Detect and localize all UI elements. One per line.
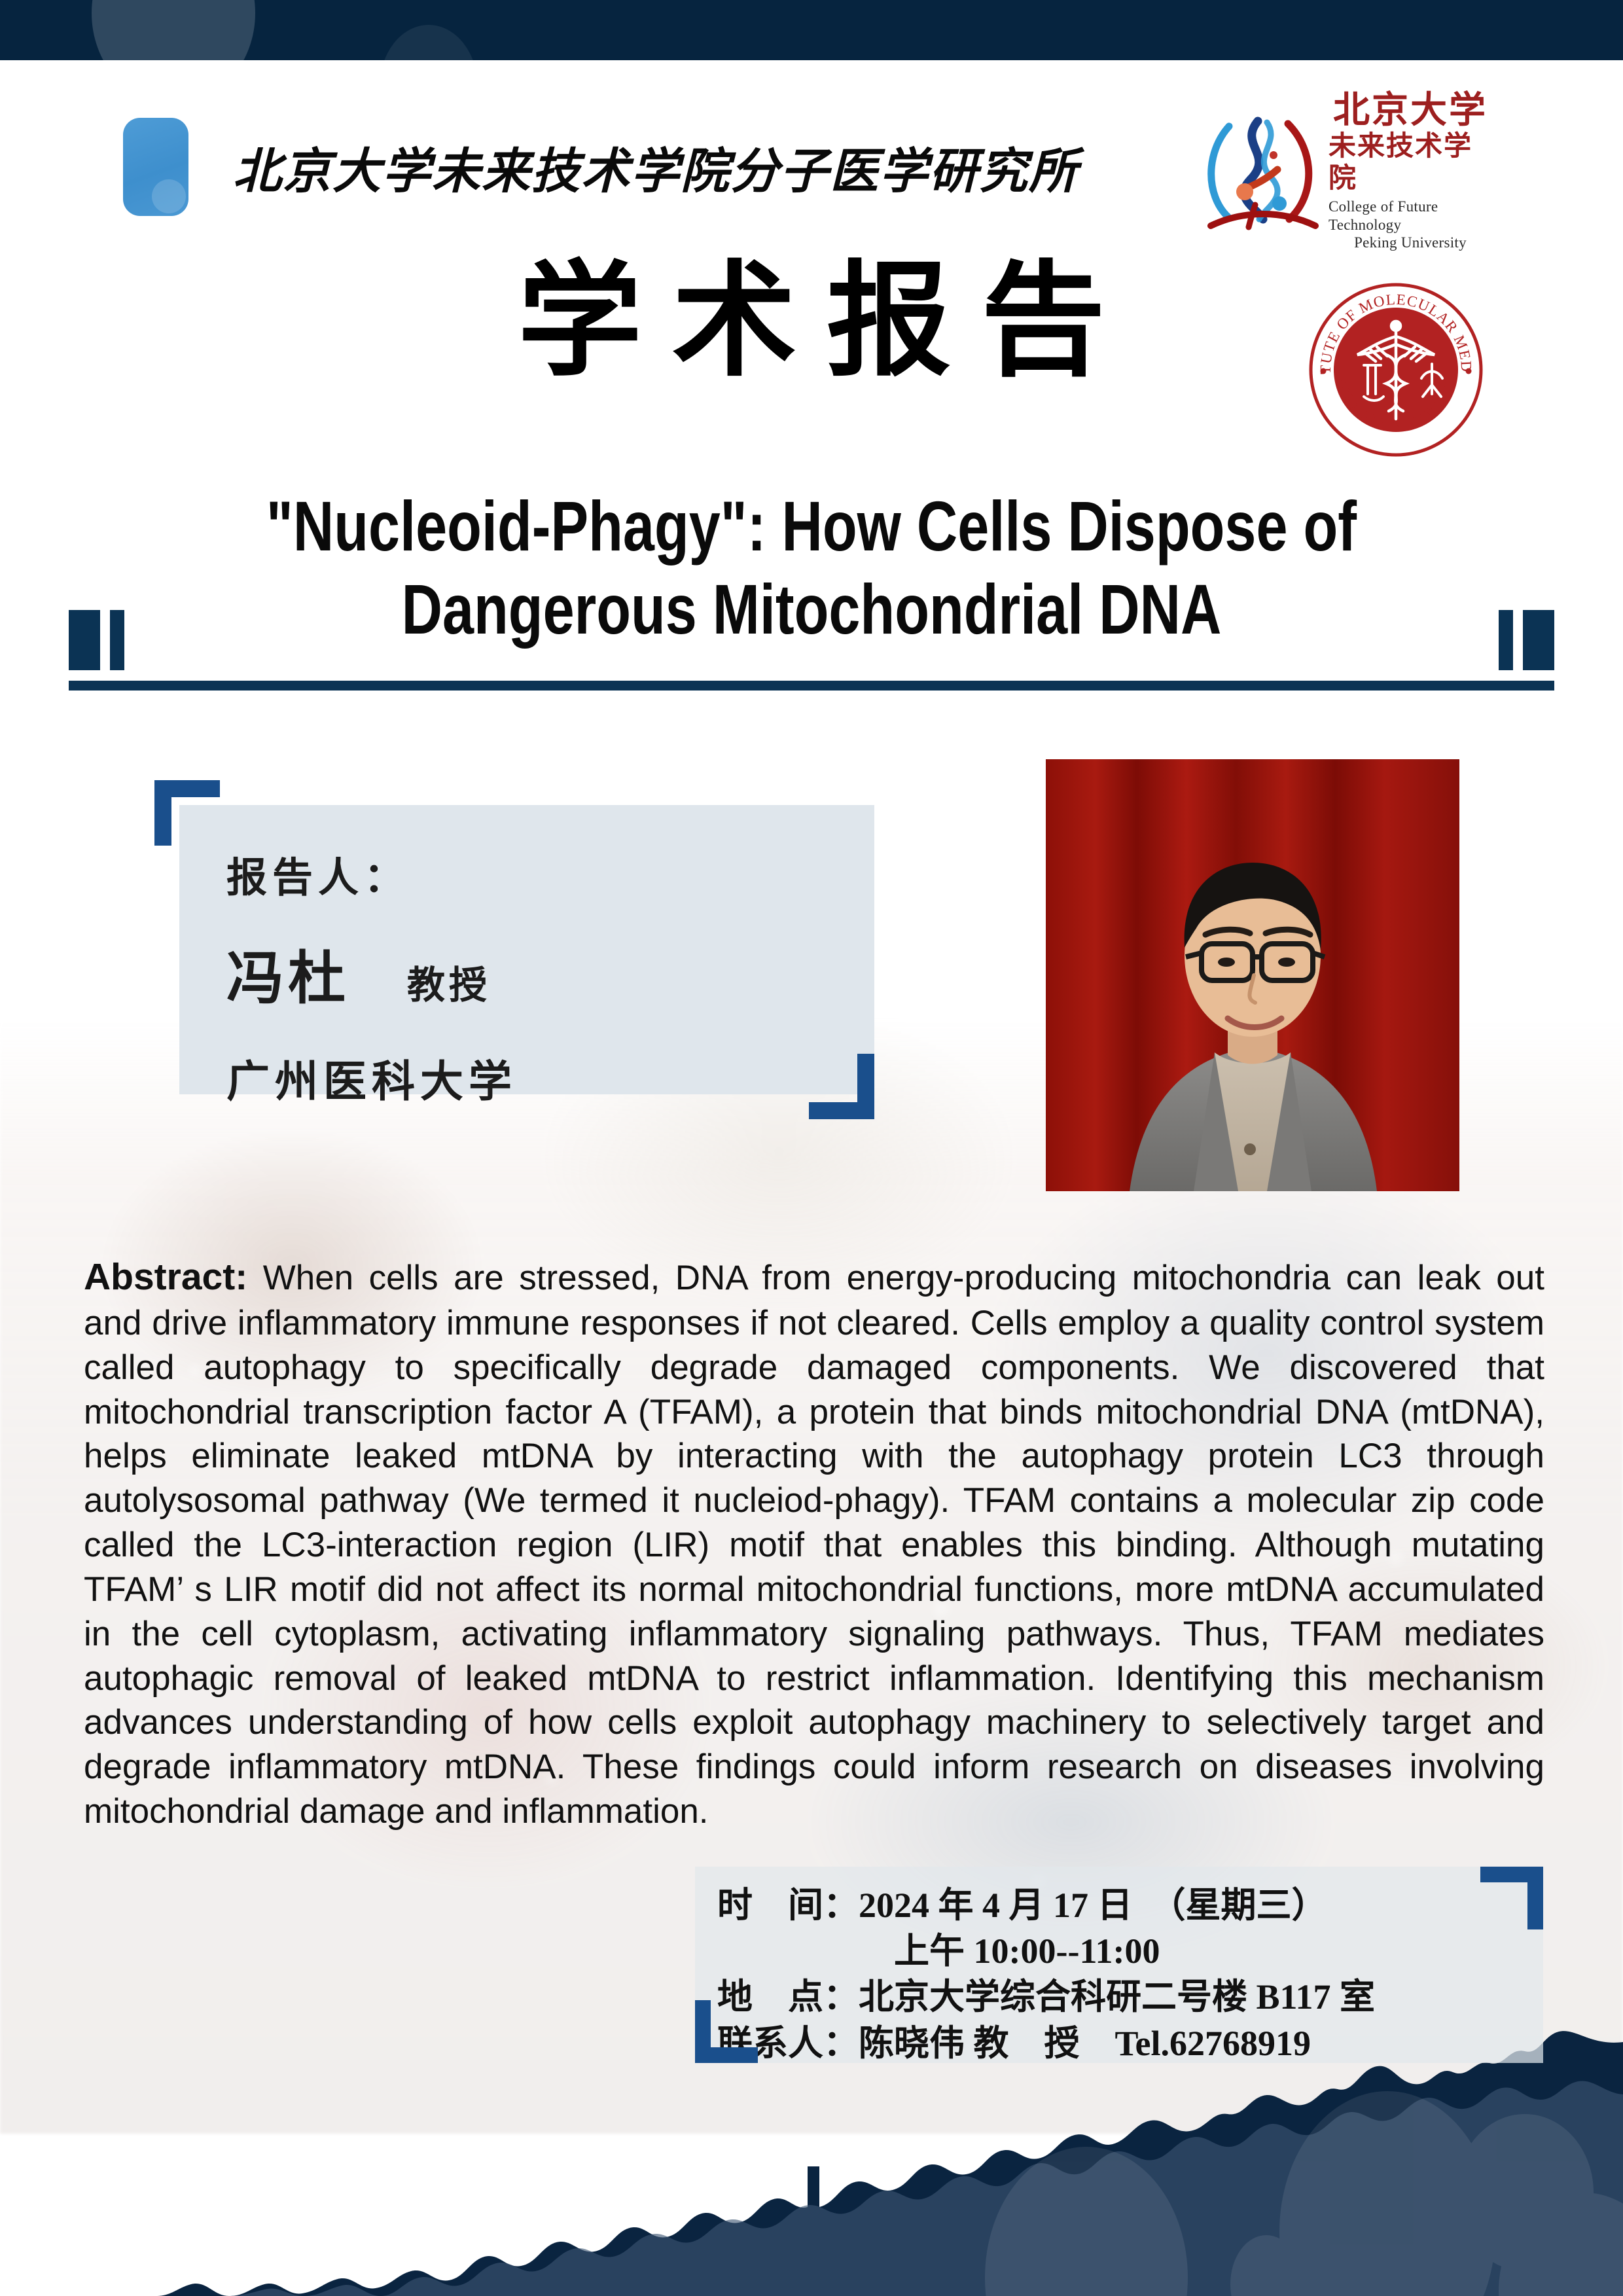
- abstract-label: Abstract:: [84, 1256, 247, 1298]
- event-contact-row: 联系人：陈晓伟 教 授 Tel.62768919: [717, 2020, 1543, 2066]
- speaker-name: 冯杜: [226, 932, 349, 1015]
- event-time-value: 2024 年 4 月 17 日 （星期三）: [859, 1886, 1327, 1925]
- event-time-row: 时 间：2024 年 4 月 17 日 （星期三）: [717, 1882, 1543, 1928]
- event-time-value2: 上午 10:00--11:00: [894, 1931, 1160, 1971]
- divider-block-left-2: [110, 610, 124, 670]
- event-time-row-2: 上午 10:00--11:00: [717, 1928, 1543, 1974]
- event-place-value: 北京大学综合科研二号楼 B117 室: [859, 1977, 1375, 2017]
- divider-block-left-1: [69, 610, 100, 670]
- event-place-row: 地 点：北京大学综合科研二号楼 B117 室: [717, 1974, 1543, 2020]
- speaker-card: 报告人： 冯杜 教授 广州医科大学: [179, 805, 874, 1094]
- cft-logo-en-line2: Peking University: [1354, 234, 1467, 252]
- speaker-label: 报告人：: [226, 844, 874, 903]
- divider-bar: [69, 681, 1554, 691]
- speaker-rank: 教授: [407, 954, 491, 1009]
- institute-name: 北京大学未来技术学院分子医学研究所: [233, 132, 1079, 202]
- event-details-card: 时 间：2024 年 4 月 17 日 （星期三） 上午 10:00--11:0…: [695, 1867, 1543, 2063]
- speaker-portrait-photo: [1046, 759, 1459, 1191]
- cft-logo-cn-top: 北京大学: [1333, 92, 1488, 130]
- details-corner-top-right: [1480, 1867, 1543, 1929]
- banner-decorative-circle-1: [92, 0, 255, 60]
- event-time-label: 时 间：: [717, 1886, 859, 1925]
- title-divider: [0, 602, 1623, 687]
- speaker-corner-bottom-right: [809, 1054, 874, 1119]
- abstract-body: When cells are stressed, DNA from energy…: [84, 1259, 1544, 1831]
- top-banner: [0, 0, 1623, 60]
- divider-block-right-2: [1499, 610, 1513, 670]
- details-corner-bottom-left: [695, 2000, 758, 2063]
- seminar-poster: 北京大学未来技术学院分子医学研究所 北京大学 未来技术学院 College of…: [0, 0, 1623, 2296]
- blue-rounded-square-icon: [123, 118, 188, 216]
- pku-cft-logo: 北京大学 未来技术学院 College of Future Technology…: [1204, 97, 1492, 247]
- abstract-text: Abstract: When cells are stressed, DNA f…: [84, 1253, 1544, 1834]
- cft-logo-cn-bottom: 未来技术学院: [1329, 131, 1492, 194]
- speaker-info-block: 报告人： 冯杜 教授 广州医科大学: [154, 780, 874, 1094]
- banner-decorative-circle-2: [380, 25, 478, 60]
- dna-helix-icon: [1204, 107, 1322, 238]
- imm-seal-logo: INSTITUTE OF MOLECULAR MEDICINE PEKING U…: [1308, 281, 1484, 458]
- event-details-block: 时 间：2024 年 4 月 17 日 （星期三） 上午 10:00--11:0…: [668, 1846, 1563, 2081]
- divider-block-right-1: [1523, 610, 1554, 670]
- cft-logo-en-line1: College of Future Technology: [1329, 198, 1492, 234]
- speaker-affiliation: 广州医科大学: [226, 1047, 874, 1109]
- event-contact-value: 陈晓伟 教 授 Tel.62768919: [859, 2024, 1311, 2063]
- speaker-name-row: 冯杜 教授: [226, 932, 874, 1015]
